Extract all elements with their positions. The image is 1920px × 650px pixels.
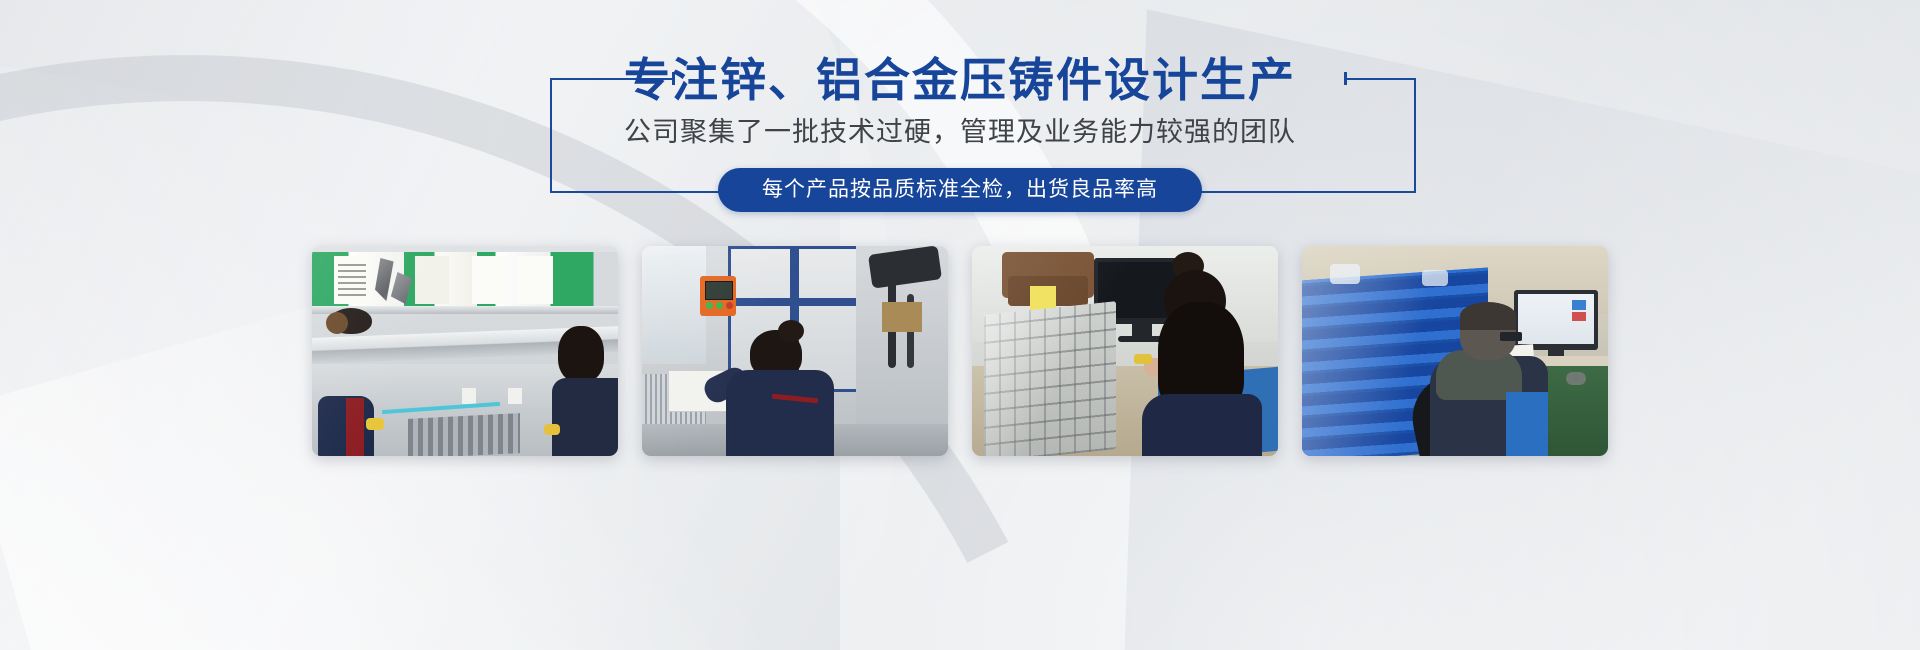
control-screen — [705, 281, 733, 300]
control-button-green-2 — [716, 302, 723, 309]
machine-panel-box — [882, 302, 922, 332]
worker-1-hair — [326, 312, 348, 334]
eyeglasses-icon — [1500, 332, 1522, 341]
posted-document-1 — [334, 256, 370, 304]
quality-badge: 每个产品按品质标准全检，出货良品率高 — [718, 168, 1202, 212]
screen-blue-block — [1572, 300, 1586, 310]
inspector-body — [1142, 394, 1262, 456]
sticky-note — [1030, 286, 1056, 310]
photo-warehouse-pc[interactable] — [1302, 246, 1608, 456]
photo-inspection-bench[interactable] — [312, 246, 618, 456]
posted-document-3 — [472, 256, 508, 304]
staff-hair — [1460, 302, 1516, 330]
control-button-red — [726, 302, 733, 309]
control-button-green-1 — [706, 302, 713, 309]
inspector-tool — [1134, 354, 1152, 364]
wall-socket-3 — [508, 388, 522, 404]
company-banner: 专注锌、铝合金压铸件设计生产 公司聚集了一批技术过硬，管理及业务能力较强的团队 … — [0, 0, 1920, 650]
plastic-bag-2 — [1422, 270, 1448, 286]
page-subtitle: 公司聚集了一批技术过硬，管理及业务能力较强的团队 — [0, 112, 1920, 152]
posted-document-4 — [517, 256, 553, 304]
worker-1-sleeve — [346, 398, 364, 456]
screen-red-block — [1572, 312, 1586, 321]
worker-1-tool — [366, 418, 384, 430]
highlight-pill-row: 每个产品按品质标准全检，出货良品率高 — [0, 168, 1920, 212]
plastic-bag-1 — [1330, 264, 1360, 284]
worker-2-tool — [544, 424, 560, 435]
computer-mouse — [1566, 372, 1586, 385]
tray-film-sheen — [984, 301, 1116, 456]
wall-socket-2 — [462, 388, 476, 404]
machine-beam — [728, 298, 862, 306]
worker-2-head — [558, 326, 604, 382]
posted-document-2 — [415, 256, 449, 304]
worker-2-body — [552, 378, 618, 456]
staff-blue-vest — [1506, 392, 1548, 456]
photo-quality-check[interactable] — [972, 246, 1278, 456]
operator-body — [726, 370, 834, 456]
photo-machine-operator[interactable] — [642, 246, 948, 456]
operator-hair-bun — [778, 320, 804, 342]
photo-strip — [0, 246, 1920, 458]
headline-block: 专注锌、铝合金压铸件设计生产 公司聚集了一批技术过硬，管理及业务能力较强的团队 … — [0, 0, 1920, 225]
window-glass — [646, 254, 702, 358]
page-title: 专注锌、铝合金压铸件设计生产 — [0, 52, 1920, 108]
parts-tray-stack — [408, 413, 520, 456]
